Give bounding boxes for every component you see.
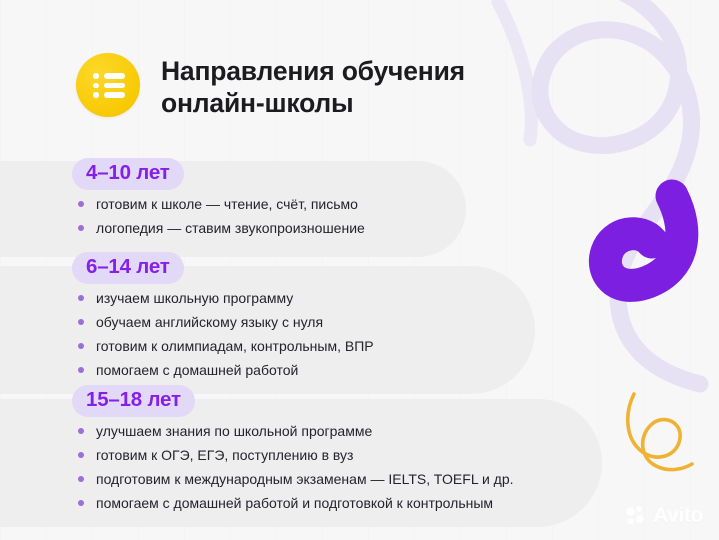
page-header: Направления обучения онлайн-школы	[76, 53, 465, 120]
bulleted-list-icon	[76, 53, 140, 117]
avito-logo-icon	[626, 506, 648, 526]
list-item: помогаем с домашней работой и подготовко…	[78, 496, 660, 510]
list-item: обучаем английскому языку с нуля	[78, 315, 660, 329]
age-badge-3: 15–18 лет	[72, 385, 195, 417]
list-item: помогаем с домашней работой	[78, 363, 660, 377]
age-group-section-3: 15–18 лет улучшаем знания по школьной пр…	[0, 385, 660, 520]
list-item: логопедия — ставим звукопроизношение	[78, 221, 660, 235]
avito-wordmark: Avito	[653, 505, 703, 526]
page-title: Направления обучения онлайн-школы	[161, 53, 465, 120]
avito-watermark: Avito	[626, 505, 703, 526]
feature-list-1: готовим к школе — чтение, счёт, письмо л…	[78, 197, 660, 235]
list-item: готовим к школе — чтение, счёт, письмо	[78, 197, 660, 211]
age-badge-1: 4–10 лет	[72, 158, 184, 190]
list-item: изучаем школьную программу	[78, 291, 660, 305]
list-item: подготовим к международным экзаменам — I…	[78, 472, 660, 486]
age-group-section-2: 6–14 лет изучаем школьную программу обуч…	[0, 252, 660, 387]
feature-list-3: улучшаем знания по школьной программе го…	[78, 424, 660, 510]
list-item: готовим к ОГЭ, ЕГЭ, поступлению в вуз	[78, 448, 660, 462]
feature-list-2: изучаем школьную программу обучаем англи…	[78, 291, 660, 377]
list-item: улучшаем знания по школьной программе	[78, 424, 660, 438]
age-badge-2: 6–14 лет	[72, 252, 184, 284]
list-item: готовим к олимпиадам, контрольным, ВПР	[78, 339, 660, 353]
poster-canvas: Направления обучения онлайн-школы 4–10 л…	[0, 0, 719, 540]
age-group-section-1: 4–10 лет готовим к школе — чтение, счёт,…	[0, 158, 660, 245]
